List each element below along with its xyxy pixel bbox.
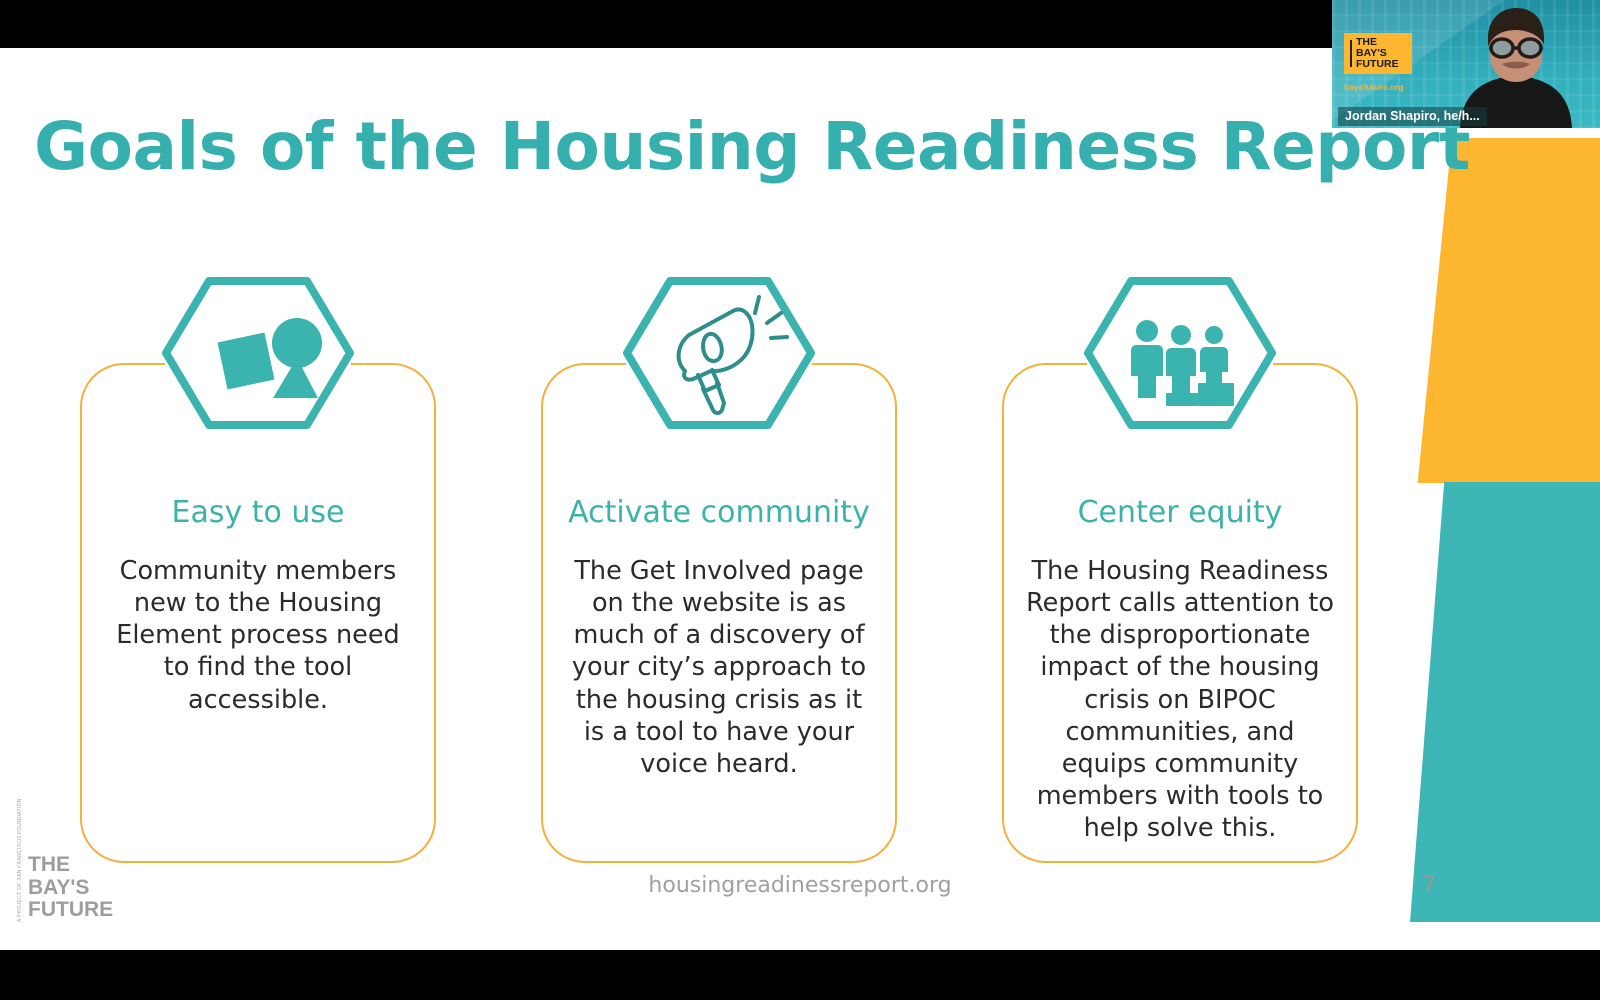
decorative-teal-panel [1410,482,1600,922]
video-brand-logo: THE BAY'S FUTURE [1344,33,1412,74]
video-logo-url: baysfuture.org [1344,82,1404,92]
video-logo-line-3: FUTURE [1356,59,1399,70]
equity-people-icon [1082,275,1278,431]
screen: Goals of the Housing Readiness Report Ea… [0,0,1600,1000]
participant-video-tile[interactable]: THE BAY'S FUTURE baysfuture.org Jordan S… [1332,0,1600,128]
participant-name-label: Jordan Shapiro, he/h... [1338,107,1487,126]
card-heading: Activate community [543,495,895,530]
megaphone-icon [621,275,817,431]
goal-card-center-equity: Center equity The Housing Readiness Repo… [1002,363,1358,863]
card-body-text: Community members new to the Housing Ele… [104,555,412,716]
card-body-text: The Housing Readiness Report calls atten… [1026,555,1334,844]
decorative-yellow-panel [1410,138,1600,483]
page-number: 7 [1422,873,1436,898]
card-body-text: The Get Involved page on the website is … [565,555,873,780]
card-heading: Center equity [1004,495,1356,530]
footer-url: housingreadinessreport.org [0,873,1600,898]
page-title: Goals of the Housing Readiness Report [34,108,1470,185]
shapes-icon [160,275,356,431]
goal-card-easy-to-use: Easy to use Community members new to the… [80,363,436,863]
logo-bar [1350,40,1352,67]
footer-logo-line-3: FUTURE [28,899,113,922]
goal-card-activate-community: Activate community The Get Involved page… [541,363,897,863]
video-logo-wordmark: THE BAY'S FUTURE [1356,37,1399,71]
card-heading: Easy to use [82,495,434,530]
presentation-slide: Goals of the Housing Readiness Report Ea… [0,48,1600,950]
